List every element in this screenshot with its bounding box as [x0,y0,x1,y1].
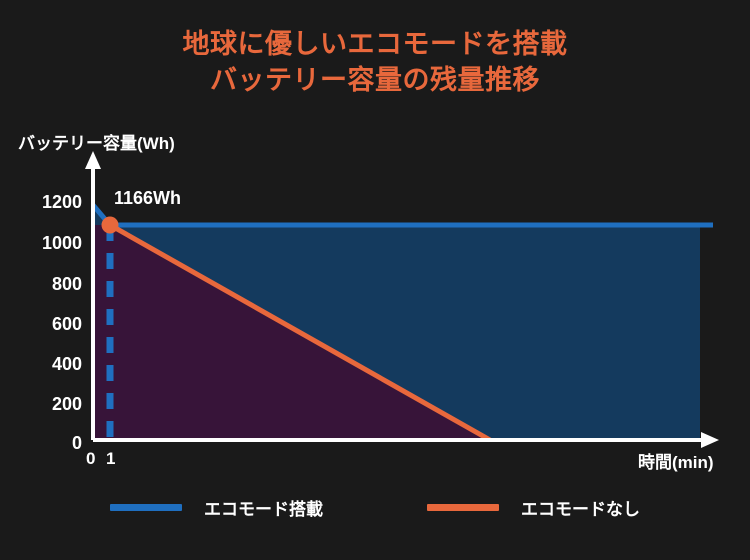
y-axis-label: バッテリー容量(Wh) [18,129,175,154]
plot-svg [93,175,718,440]
data-point-marker [102,217,119,234]
legend-swatch-no-eco-mode-icon [427,504,499,511]
chart-canvas: 地球に優しいエコモードを搭載 バッテリー容量の残量推移 バッテリー容量(Wh) … [0,0,750,560]
legend-swatch-eco-mode-icon [110,504,182,511]
y-tick-label-800: 800 [24,275,82,293]
chart-title-line-1: 地球に優しいエコモードを搭載 [0,26,750,62]
plot-area [93,175,718,440]
x-tick-label-0: 0 [86,450,95,467]
x-axis-arrowhead [701,432,719,448]
legend-item-no-eco-mode[interactable]: エコモードなし [427,495,640,520]
y-tick-label-400: 400 [24,355,82,373]
chart-title-line-2: バッテリー容量の残量推移 [0,62,750,98]
y-tick-label-0: 0 [24,434,82,452]
legend-label-eco-mode: エコモード搭載 [204,495,323,520]
chart-legend: エコモード搭載 エコモードなし [0,495,750,520]
x-tick-label-1: 1 [106,450,115,467]
y-tick-label-600: 600 [24,315,82,333]
y-tick-label-200: 200 [24,395,82,413]
line-series-eco-mode [93,205,713,225]
legend-label-no-eco-mode: エコモードなし [521,495,640,520]
legend-item-eco-mode[interactable]: エコモード搭載 [110,495,323,520]
chart-title: 地球に優しいエコモードを搭載 バッテリー容量の残量推移 [0,26,750,98]
y-tick-label-1000: 1000 [24,234,82,252]
x-axis-label: 時間(min) [638,448,714,473]
y-tick-label-1200: 1200 [24,193,82,211]
